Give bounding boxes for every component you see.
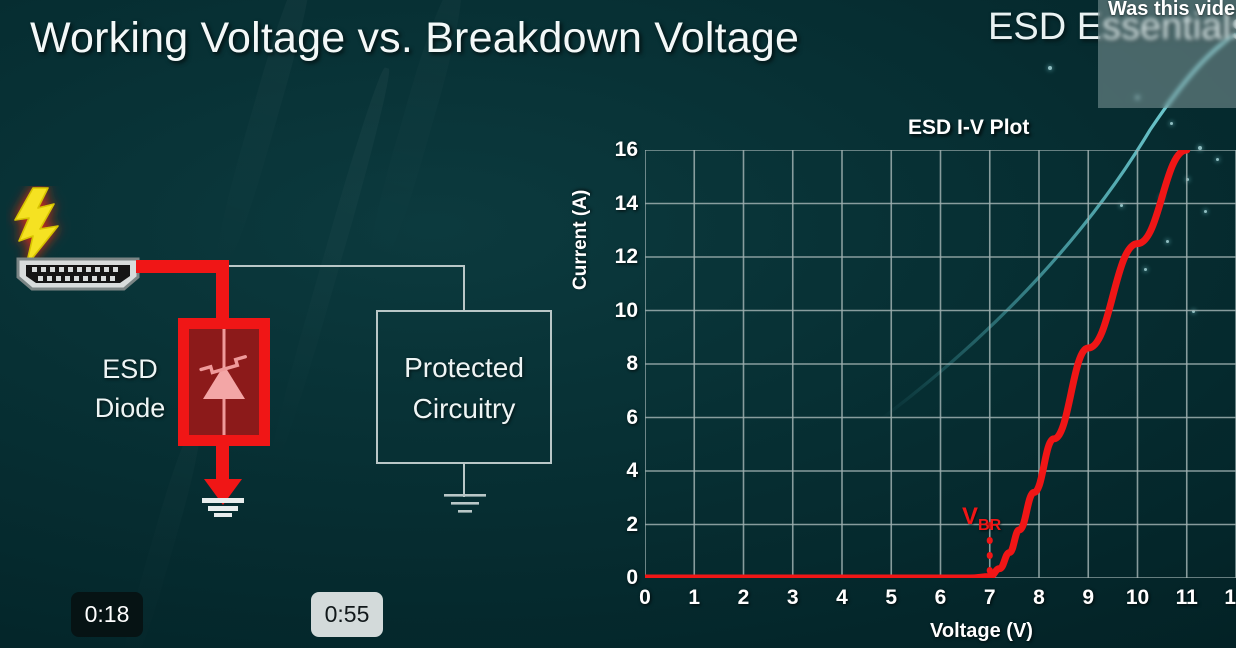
- esd-diode-label: ESD Diode: [82, 350, 178, 428]
- y-tick-label: 16: [615, 138, 638, 162]
- vbr-sublabel: BR: [978, 517, 1001, 534]
- chart-title: ESD I-V Plot: [908, 116, 1029, 140]
- star-particle: [1170, 122, 1173, 125]
- esd-diode-box: [178, 318, 270, 446]
- marker-time-badge[interactable]: 0:55: [311, 592, 383, 637]
- breakdown-voltage-annotation: VBR: [962, 503, 1001, 535]
- x-tick-label: 7: [984, 586, 996, 610]
- x-tick-label: 11: [1176, 586, 1198, 610]
- y-axis-ticks: 0246810121416: [600, 150, 638, 578]
- esd-wire-vertical: [216, 260, 229, 322]
- signal-wire-vertical: [463, 265, 465, 311]
- ground-symbol-icon: [442, 492, 488, 516]
- esd-wire-horizontal: [136, 260, 228, 273]
- x-tick-label: 5: [885, 586, 897, 610]
- y-tick-label: 14: [615, 192, 638, 216]
- y-tick-label: 4: [626, 459, 638, 483]
- feedback-overlay-text: Was this video: [1108, 0, 1236, 21]
- x-tick-label: 8: [1033, 586, 1045, 610]
- esd-diode-label-line1: ESD: [82, 350, 178, 389]
- y-tick-label: 0: [626, 566, 638, 590]
- slide-canvas: Working Voltage vs. Breakdown Voltage ES…: [0, 0, 1236, 648]
- y-tick-label: 6: [626, 406, 638, 430]
- zener-diode-symbol-icon: [189, 329, 259, 435]
- y-tick-label: 2: [626, 513, 638, 537]
- protected-circuitry-label: Protected Circuitry: [376, 348, 552, 429]
- protected-label-line2: Circuitry: [376, 389, 552, 430]
- signal-wire-horizontal: [222, 265, 465, 267]
- esd-iv-plot: [645, 150, 1236, 578]
- y-tick-label: 8: [626, 352, 638, 376]
- current-time-badge[interactable]: 0:18: [71, 592, 143, 637]
- protected-label-line1: Protected: [376, 348, 552, 389]
- plot-area: [645, 150, 1236, 578]
- x-tick-label: 10: [1126, 586, 1149, 610]
- chart-y-axis-label: Current (A): [570, 190, 592, 290]
- y-tick-label: 12: [615, 245, 638, 269]
- x-tick-label: 1: [688, 586, 700, 610]
- x-tick-label: 3: [787, 586, 799, 610]
- x-tick-label: 6: [935, 586, 947, 610]
- vbr-label: V: [962, 503, 978, 530]
- star-particle: [1048, 66, 1052, 70]
- x-tick-label: 9: [1082, 586, 1094, 610]
- esd-diode-label-line2: Diode: [82, 389, 178, 428]
- ground-symbol-icon: [196, 465, 250, 517]
- hdmi-connector-icon: [14, 255, 142, 293]
- chart-x-axis-label: Voltage (V): [930, 620, 1033, 643]
- x-tick-label: 0: [639, 586, 651, 610]
- y-tick-label: 10: [615, 299, 638, 323]
- x-axis-ticks: 0123456789101112: [645, 586, 1236, 616]
- x-tick-label: 2: [738, 586, 750, 610]
- page-title: Working Voltage vs. Breakdown Voltage: [30, 14, 799, 63]
- x-tick-label: 12: [1224, 586, 1236, 610]
- x-tick-label: 4: [836, 586, 848, 610]
